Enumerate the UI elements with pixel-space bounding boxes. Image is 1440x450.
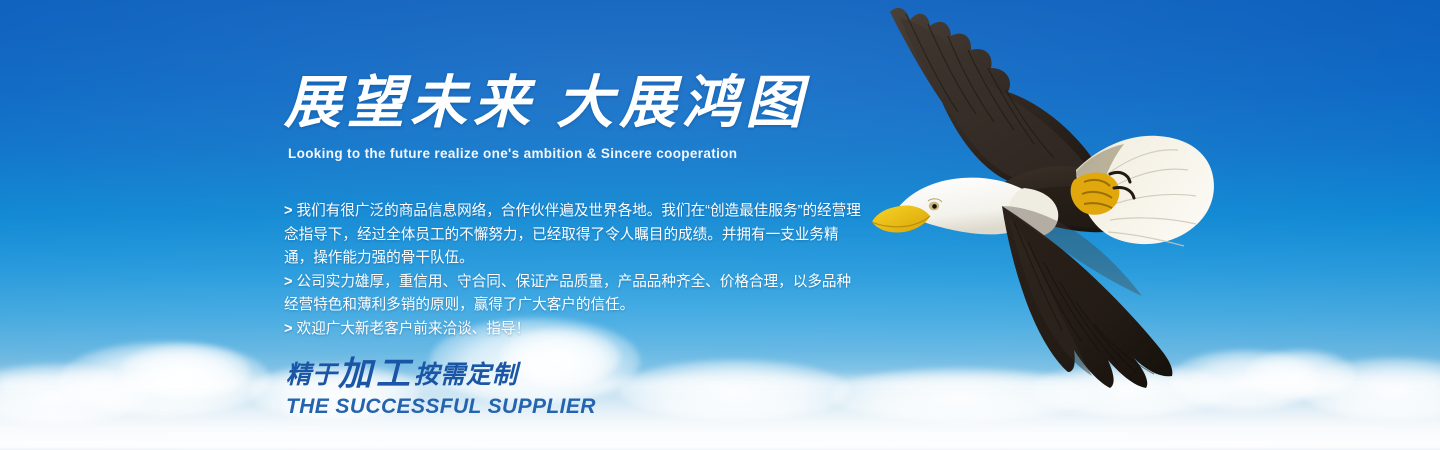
tagline-emphasis: 加工 [338, 356, 414, 393]
copy-paragraph: >我们有很广泛的商品信息网络，合作伙伴遍及世界各地。我们在“创造最佳服务”的经营… [284, 200, 862, 271]
tagline-chinese: 精于加工按需定制 [286, 356, 616, 393]
copy-paragraph: >公司实力雄厚，重信用、守合同、保证产品质量，产品品种齐全、价格合理，以多品种经… [284, 271, 862, 318]
copy-paragraph: >欢迎广大新老客户前来洽谈、指导！ [284, 318, 862, 342]
tagline-block: 精于加工按需定制 THE SUCCESSFUL SUPPLIER [286, 356, 616, 419]
bullet-marker: > [284, 321, 293, 337]
copy-text: 我们有很广泛的商品信息网络，合作伙伴遍及世界各地。我们在“创造最佳服务”的经营理… [284, 203, 861, 266]
bullet-marker: > [284, 274, 293, 290]
copy-text: 欢迎广大新老客户前来洽谈、指导！ [297, 321, 531, 337]
banner-content: 展望未来 大展鸿图 Looking to the future realize … [282, 0, 902, 450]
page-title: 展望未来 大展鸿图 [284, 72, 808, 136]
tagline-suffix: 按需定制 [414, 362, 518, 389]
page-subtitle: Looking to the future realize one's ambi… [288, 146, 737, 161]
tagline-english: THE SUCCESSFUL SUPPLIER [286, 395, 616, 419]
bullet-marker: > [284, 203, 293, 219]
eagle-upper-wing [890, 8, 1100, 188]
tagline-prefix: 精于 [286, 362, 338, 389]
promo-banner: 展望未来 大展鸿图 Looking to the future realize … [0, 0, 1440, 450]
copy-text: 公司实力雄厚，重信用、守合同、保证产品质量，产品品种齐全、价格合理，以多品种经营… [284, 274, 851, 314]
body-copy: >我们有很广泛的商品信息网络，合作伙伴遍及世界各地。我们在“创造最佳服务”的经营… [284, 200, 862, 341]
